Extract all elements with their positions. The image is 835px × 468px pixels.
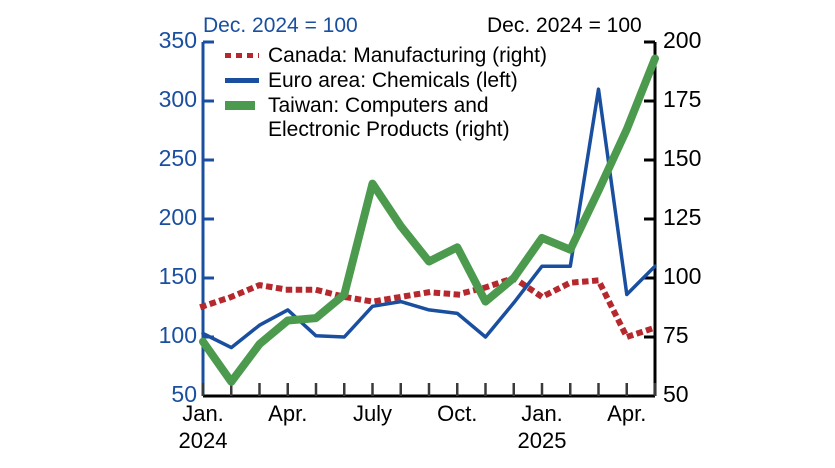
y-tick-left-250: 250 [145, 145, 197, 172]
y-tick-left-200: 200 [145, 204, 197, 231]
x-tick-4: Jan. [502, 401, 582, 427]
chart-container: Dec. 2024 = 100 Dec. 2024 = 100 Canada: … [0, 0, 835, 468]
y-tick-right-100: 100 [663, 263, 715, 290]
y-tick-right-75: 75 [663, 322, 715, 349]
x-tick-2: July [333, 401, 413, 427]
y-tick-right-175: 175 [663, 86, 715, 113]
y-tick-right-125: 125 [663, 204, 715, 231]
y-tick-right-200: 200 [663, 27, 715, 54]
y-tick-left-350: 350 [145, 27, 197, 54]
x-tick-5: Apr. [587, 401, 667, 427]
y-tick-left-100: 100 [145, 322, 197, 349]
series-line-0 [203, 278, 655, 337]
x-tick-0: Jan. [163, 401, 243, 427]
y-tick-left-150: 150 [145, 263, 197, 290]
y-tick-right-50: 50 [663, 381, 715, 408]
x-tick-3: Oct. [417, 401, 497, 427]
y-tick-right-150: 150 [663, 145, 715, 172]
x-year-0: 2024 [163, 428, 243, 454]
x-year-4: 2025 [502, 428, 582, 454]
y-tick-left-300: 300 [145, 86, 197, 113]
series-line-2 [203, 59, 655, 382]
x-tick-1: Apr. [248, 401, 328, 427]
